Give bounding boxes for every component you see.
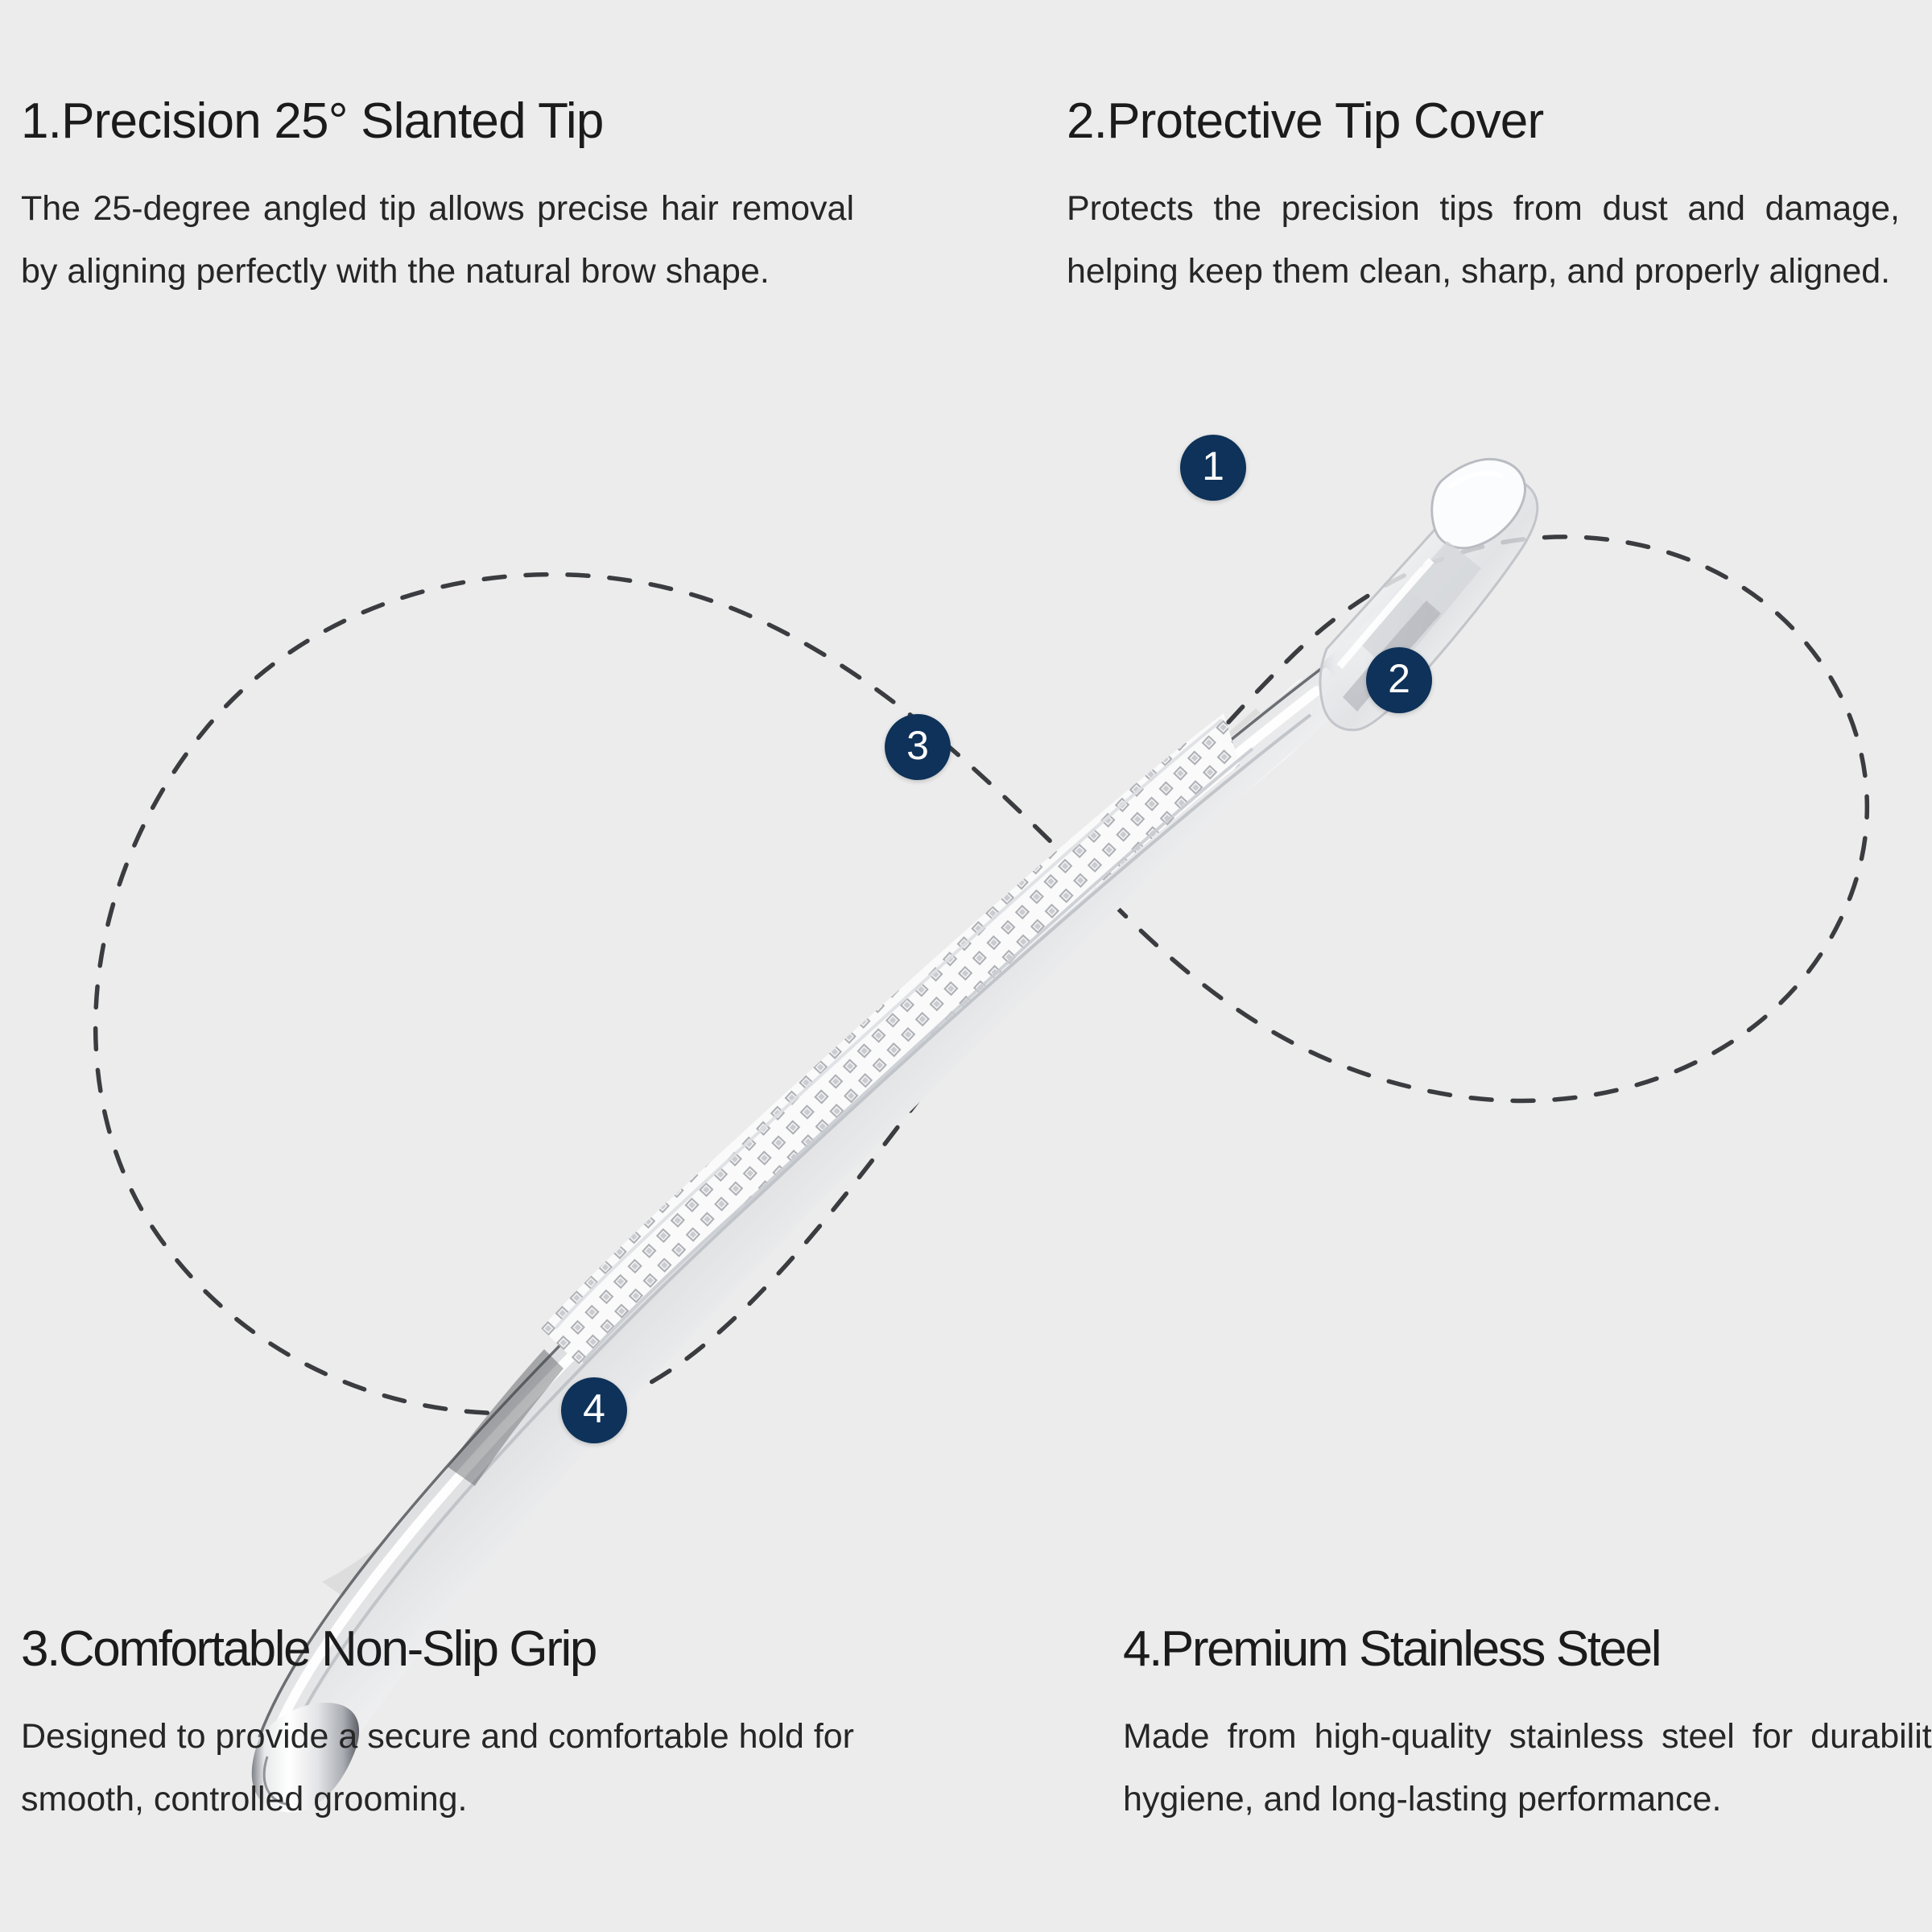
feature-1-title: 1.Precision 25° Slanted Tip (21, 97, 854, 147)
feature-block-1: 1.Precision 25° Slanted Tip The 25-degre… (21, 97, 854, 303)
callout-badge-2[interactable]: 2 (1366, 647, 1432, 713)
callout-badge-3-label: 3 (906, 725, 929, 766)
feature-3-body: Designed to provide a secure and comfort… (21, 1705, 854, 1831)
upper-arm-outline (259, 663, 1328, 1737)
grip-band-edge-top (583, 749, 1253, 1362)
feature-4-title: 4.Premium Stainless Steel (1123, 1624, 1932, 1674)
callout-badge-1-label: 1 (1202, 446, 1224, 486)
infographic-canvas: 1 2 3 4 1.Precision 25° Slanted Tip The … (0, 0, 1932, 1932)
tip-cover-rim-highlight (1449, 473, 1502, 488)
callout-badge-4-label: 4 (583, 1389, 605, 1429)
dashed-ribbon-decoration (96, 537, 1868, 1414)
callout-badge-1[interactable]: 1 (1180, 435, 1246, 501)
callout-badge-2-label: 2 (1388, 658, 1410, 699)
tweezer-lower-arm (320, 677, 1333, 1691)
feature-block-3: 3.Comfortable Non-Slip Grip Designed to … (21, 1624, 854, 1831)
callout-badge-4[interactable]: 4 (561, 1377, 627, 1443)
feature-block-4: 4.Premium Stainless Steel Made from high… (1123, 1624, 1932, 1831)
feature-2-body: Protects the precision tips from dust an… (1067, 177, 1900, 303)
feature-1-body: The 25-degree angled tip allows precise … (21, 177, 854, 303)
tweezers-product-photo (252, 459, 1538, 1812)
product-shadow (322, 708, 1296, 1610)
feature-4-body: Made from high-quality stainless steel f… (1123, 1705, 1932, 1831)
feature-2-title: 2.Protective Tip Cover (1067, 97, 1900, 147)
upper-arm-highlight (275, 691, 1317, 1736)
tip-cover-rim (1432, 459, 1525, 547)
upper-arm-shade-line (290, 715, 1311, 1739)
grip-band-edge-bottom (555, 720, 1222, 1328)
arm-crossing-shadow (448, 1349, 563, 1486)
feature-3-title: 3.Comfortable Non-Slip Grip (21, 1624, 854, 1674)
feature-block-2: 2.Protective Tip Cover Protects the prec… (1067, 97, 1900, 303)
callout-badge-3[interactable]: 3 (885, 714, 951, 780)
lower-arm-edge (320, 699, 1288, 1655)
